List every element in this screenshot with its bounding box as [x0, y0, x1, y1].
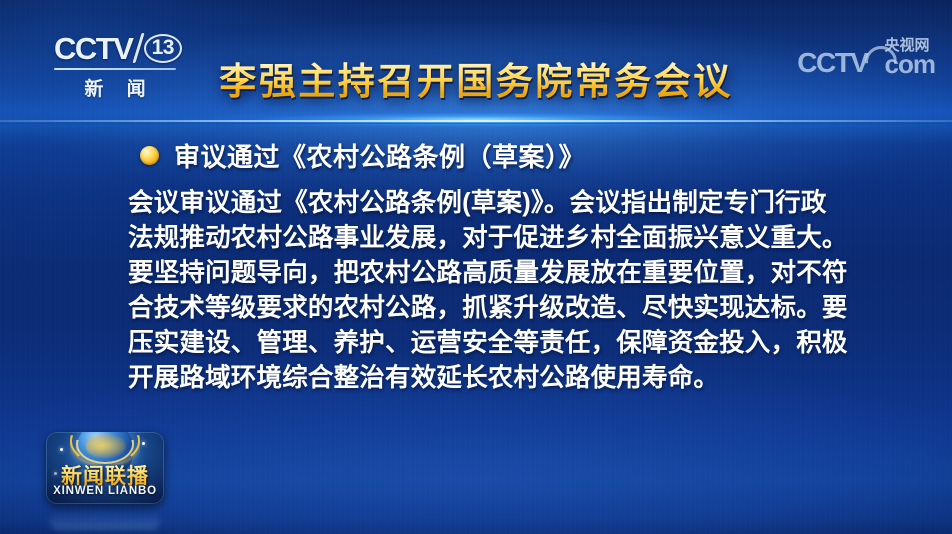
sparkle-icon [60, 448, 63, 451]
divider-line [0, 120, 952, 122]
body-line: 压实建设、管理、养护、运营安全等责任，保障资金投入，积极 [128, 326, 853, 361]
subtitle-row: 审议通过《农村公路条例（草案）》 [140, 137, 585, 174]
body-line: 要坚持问题导向，把农村公路高质量发展放在重要位置，对不符 [128, 256, 853, 291]
program-title-en: XINWEN LIANBO [46, 485, 164, 497]
logo-slash-icon [133, 33, 144, 63]
divider-line-shadow [0, 123, 952, 124]
xinwen-lianbo-badge: 新闻联播 XINWEN LIANBO [46, 432, 164, 504]
body-line: 开展路域环境综合整治有效延长农村公路使用寿命。 [128, 361, 853, 396]
divider-glow [0, 104, 952, 130]
broadcast-frame: CCTV 13 新 闻 CCTV 央视网 com 李强主持召开国务院常务会议 审… [0, 0, 952, 534]
badge-reflection [50, 508, 160, 530]
channel-number: 13 [152, 36, 174, 60]
bullet-dot-icon [140, 146, 159, 165]
sparkle-icon [142, 442, 145, 445]
body-line: 法规推动农村公路事业发展，对于促进乡村全面振兴意义重大。 [128, 221, 853, 256]
body-line: 合技术等级要求的农村公路，抓紧升级改造、尽快实现达标。要 [128, 291, 853, 326]
body-line: 会议审议通过《农村公路条例(草案)》。会议指出制定专门行政 [128, 186, 853, 221]
program-badge-wrapper: 新闻联播 XINWEN LIANBO [46, 432, 164, 504]
cctv-wordmark: CCTV [54, 33, 132, 64]
cctv13-logo-row: CCTV 13 [54, 31, 182, 65]
channel-number-badge: 13 [144, 34, 182, 63]
body-text: 会议审议通过《农村公路条例(草案)》。会议指出制定专门行政 法规推动农村公路事业… [128, 186, 853, 396]
subtitle-text: 审议通过《农村公路条例（草案）》 [174, 137, 585, 174]
headline: 李强主持召开国务院常务会议 [0, 62, 952, 103]
